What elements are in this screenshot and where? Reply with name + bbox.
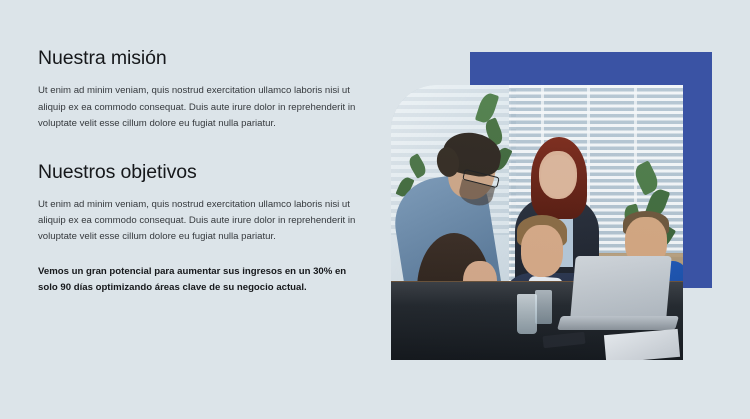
laptop-keyboard	[557, 316, 679, 330]
objectives-highlight-text: Vemos un gran potencial para aumentar su…	[38, 264, 348, 296]
photo-scene	[391, 85, 683, 360]
person-woman-standing-face	[541, 155, 575, 197]
laptop-screen	[570, 256, 671, 318]
objectives-body-text: Ut enim ad minim veniam, quis nostrud ex…	[38, 197, 360, 245]
mission-body-text: Ut enim ad minim veniam, quis nostrud ex…	[38, 83, 360, 131]
person-man-navy-suit-head	[521, 225, 563, 277]
page-title: Nuestra misión	[38, 48, 368, 69]
water-glass	[535, 290, 552, 324]
paper-document	[604, 329, 680, 360]
media-block	[391, 52, 712, 360]
slide-canvas: Nuestra misión Ut enim ad minim veniam, …	[0, 0, 750, 419]
water-glass	[517, 294, 537, 334]
content-column: Nuestra misión Ut enim ad minim veniam, …	[38, 48, 368, 296]
objectives-heading: Nuestros objetivos	[38, 162, 368, 183]
team-photo	[391, 85, 683, 360]
